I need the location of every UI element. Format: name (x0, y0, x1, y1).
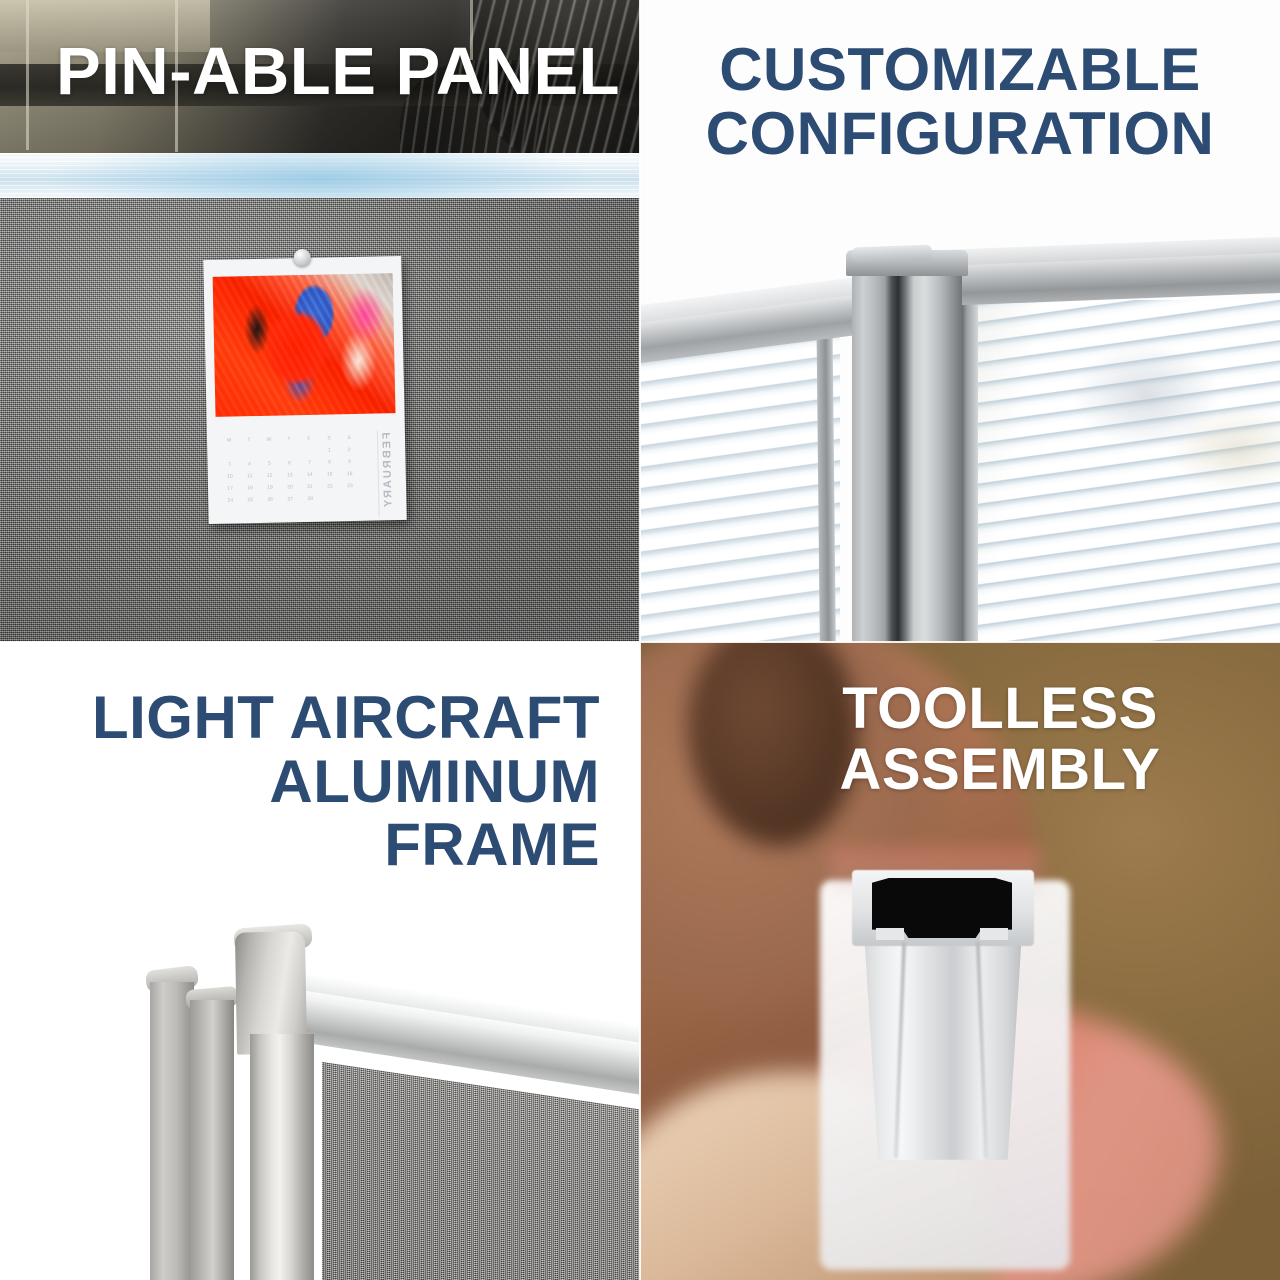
headline-light-aircraft-aluminum-frame: LIGHT AIRCRAFT ALUMINUM FRAME (0, 686, 620, 877)
rail-highlight-lines (0, 153, 640, 199)
channel-notch-left (876, 928, 904, 940)
calendar-day-cell: 23 (340, 483, 360, 495)
calendar-day-cell: 15 (320, 471, 340, 483)
calendar-day-cell: 7 (299, 460, 319, 472)
calendar-day-cell: 20 (280, 484, 300, 496)
calendar-divider (377, 430, 380, 516)
panel-customizable-configuration: CUSTOMIZABLE CONFIGURATION (640, 0, 1280, 642)
calendar-day-cell (279, 448, 299, 460)
front-vertical-post (250, 1034, 314, 1280)
headline-customizable-configuration: CUSTOMIZABLE CONFIGURATION (640, 38, 1280, 165)
window-blinds-right (930, 300, 1280, 642)
calendar-day-cell: 19 (260, 485, 280, 497)
calendar-weekday-header: F (299, 436, 319, 448)
calendar-day-grid: MTWTFSS123456789101112131415161718192021… (219, 435, 361, 512)
calendar-day-cell: 22 (320, 483, 340, 495)
panel-toolless-assembly: TOOLLESS ASSEMBLY (640, 642, 1280, 1280)
acrylic-panel-edge (960, 286, 978, 642)
partition-corner-post (852, 268, 962, 642)
calendar-weekday-header: M (219, 437, 239, 449)
calendar-day-cell: 24 (220, 497, 240, 509)
calendar-day-cell (239, 449, 259, 461)
panel-top-aluminum-rail (0, 153, 640, 199)
pinned-calendar: MTWTFSS123456789101112131415161718192021… (203, 256, 406, 524)
calendar-day-cell: 17 (220, 485, 240, 497)
calendar-artwork (213, 273, 396, 417)
post-end-cap-highlight (852, 245, 933, 264)
calendar-weekday-header: W (259, 437, 279, 449)
calendar-month-label: FEBRUARY (381, 432, 401, 514)
calendar-day-cell (340, 495, 360, 507)
calendar-day-cell (320, 495, 340, 507)
calendar-day-cell: 9 (339, 459, 359, 471)
calendar-day-cell: 5 (259, 461, 279, 473)
calendar-day-cell: 6 (279, 460, 299, 472)
ceiling-pipe (26, 0, 29, 150)
rear-post (150, 982, 194, 1280)
feature-grid-sheet: MTWTFSS123456789101112131415161718192021… (0, 0, 1280, 1280)
headline-toolless-assembly: TOOLLESS ASSEMBLY (640, 678, 1280, 801)
calendar-day-cell: 28 (300, 496, 320, 508)
channel-notch-right (980, 928, 1008, 940)
calendar-day-cell: 26 (260, 497, 280, 509)
grid-divider-horizontal (0, 641, 1280, 643)
calendar-day-cell: 8 (319, 459, 339, 471)
calendar-weekday-header: S (339, 435, 359, 447)
calendar-weekday-header: T (279, 436, 299, 448)
calendar-day-cell: 13 (280, 472, 300, 484)
panel-pin-able-panel: MTWTFSS123456789101112131415161718192021… (0, 0, 640, 642)
calendar-day-cell: 16 (340, 471, 360, 483)
middle-post (190, 1000, 234, 1280)
calendar-day-cell: 21 (300, 484, 320, 496)
grid-divider-vertical (639, 0, 641, 1280)
calendar-day-cell (219, 449, 239, 461)
calendar-day-cell (259, 449, 279, 461)
push-pin-icon (294, 249, 311, 266)
window-blinds-left (640, 330, 840, 642)
calendar-day-cell: 12 (260, 473, 280, 485)
calendar-day-cell: 11 (240, 473, 260, 485)
calendar-day-cell: 14 (300, 472, 320, 484)
calendar-day-cell: 1 (319, 447, 339, 459)
calendar-day-cell: 18 (240, 485, 260, 497)
calendar-day-cell (299, 448, 319, 460)
calendar-day-cell: 27 (280, 496, 300, 508)
calendar-day-cell: 25 (240, 497, 260, 509)
calendar-day-cell: 2 (339, 447, 359, 459)
calendar-day-cell: 4 (239, 461, 259, 473)
calendar-weekday-header: S (319, 435, 339, 447)
calendar-weekday-header: T (239, 437, 259, 449)
calendar-day-cell: 10 (220, 473, 240, 485)
panel-light-aircraft-aluminum-frame: LIGHT AIRCRAFT ALUMINUM FRAME (0, 642, 640, 1280)
headline-pin-able-panel: PIN-ABLE PANEL (56, 36, 620, 107)
calendar-day-cell: 3 (219, 461, 239, 473)
